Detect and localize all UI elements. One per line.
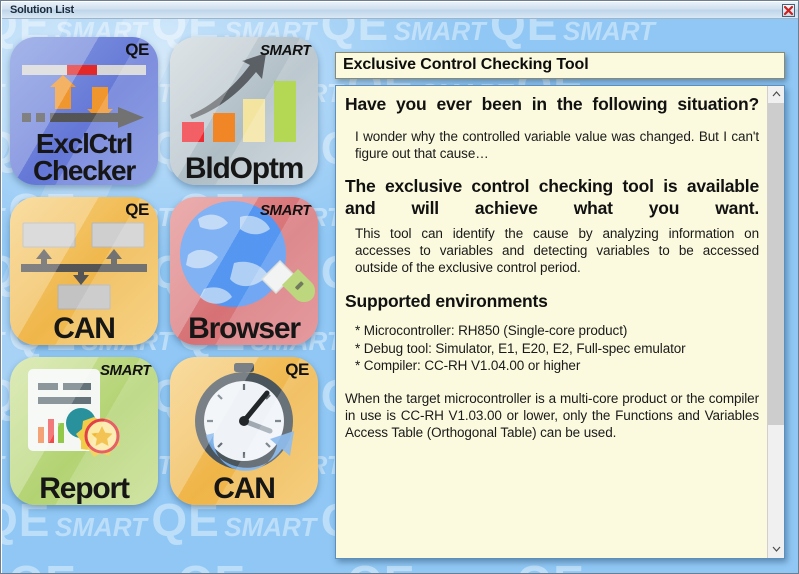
panel-paragraph-1: I wonder why the controlled variable val…: [355, 128, 759, 162]
scroll-up-button[interactable]: [768, 86, 784, 103]
solution-list-window: Solution List QE SMART QE SMART QE SMART…: [0, 0, 799, 574]
window-title: Solution List: [10, 3, 74, 18]
vertical-scrollbar[interactable]: [767, 86, 784, 558]
panel-heading-3: Supported environments: [345, 290, 759, 312]
tile-badge-smart: SMART: [260, 202, 311, 219]
tile-can-qe[interactable]: QE CAN: [10, 197, 158, 345]
close-x-icon: [783, 5, 794, 16]
supported-environments-list: * Microcontroller: RH850 (Single-core pr…: [355, 322, 759, 375]
list-item: * Compiler: CC-RH V1.04.00 or higher: [355, 357, 759, 375]
tile-report[interactable]: SMART Report: [10, 357, 158, 505]
chevron-up-icon: [772, 91, 781, 97]
tile-label-can: CAN: [170, 474, 318, 503]
panel-paragraph-2: This tool can identify the cause by anal…: [355, 225, 759, 276]
tile-label-browser: Browser: [170, 314, 318, 343]
scroll-down-button[interactable]: [768, 541, 784, 558]
tile-badge-qe: QE: [125, 40, 149, 60]
tile-label-bldoptm: BldOptm: [170, 154, 318, 183]
tile-bldoptm[interactable]: SMART BldOptm: [170, 37, 318, 185]
tile-label-exclctrl-checker: ExclCtrlChecker: [10, 130, 158, 184]
scroll-thumb[interactable]: [768, 103, 784, 425]
tile-badge-qe: QE: [285, 360, 309, 380]
panel-heading-1: Have you ever been in the following situ…: [345, 93, 759, 115]
panel-paragraph-3: When the target microcontroller is a mul…: [345, 390, 759, 441]
panel-heading-2: The exclusive control checking tool is a…: [345, 175, 759, 219]
panel-title-bar: Exclusive Control Checking Tool: [335, 52, 785, 79]
tile-label-report: Report: [10, 474, 158, 503]
panel-body: Have you ever been in the following situ…: [335, 85, 785, 559]
tile-badge-qe: QE: [125, 200, 149, 220]
desktop-background: QE SMART QE SMART QE SMART QE SMART SMAR…: [2, 19, 799, 574]
tile-browser[interactable]: SMART Browser: [170, 197, 318, 345]
tile-exclctrl-checker[interactable]: QE ExclCtrlChecker: [10, 37, 158, 185]
tile-badge-smart: SMART: [100, 362, 151, 379]
tile-can-smart[interactable]: QE CAN: [170, 357, 318, 505]
panel-title-text: Exclusive Control Checking Tool: [343, 56, 589, 74]
tile-label-can: CAN: [10, 314, 158, 343]
close-button[interactable]: [782, 4, 795, 17]
panel-content: Have you ever been in the following situ…: [336, 86, 768, 558]
list-item: * Debug tool: Simulator, E1, E20, E2, Fu…: [355, 340, 759, 358]
window-titlebar: Solution List: [2, 2, 799, 19]
tile-badge-smart: SMART: [260, 42, 311, 59]
chevron-down-icon: [772, 546, 781, 552]
list-item: * Microcontroller: RH850 (Single-core pr…: [355, 322, 759, 340]
